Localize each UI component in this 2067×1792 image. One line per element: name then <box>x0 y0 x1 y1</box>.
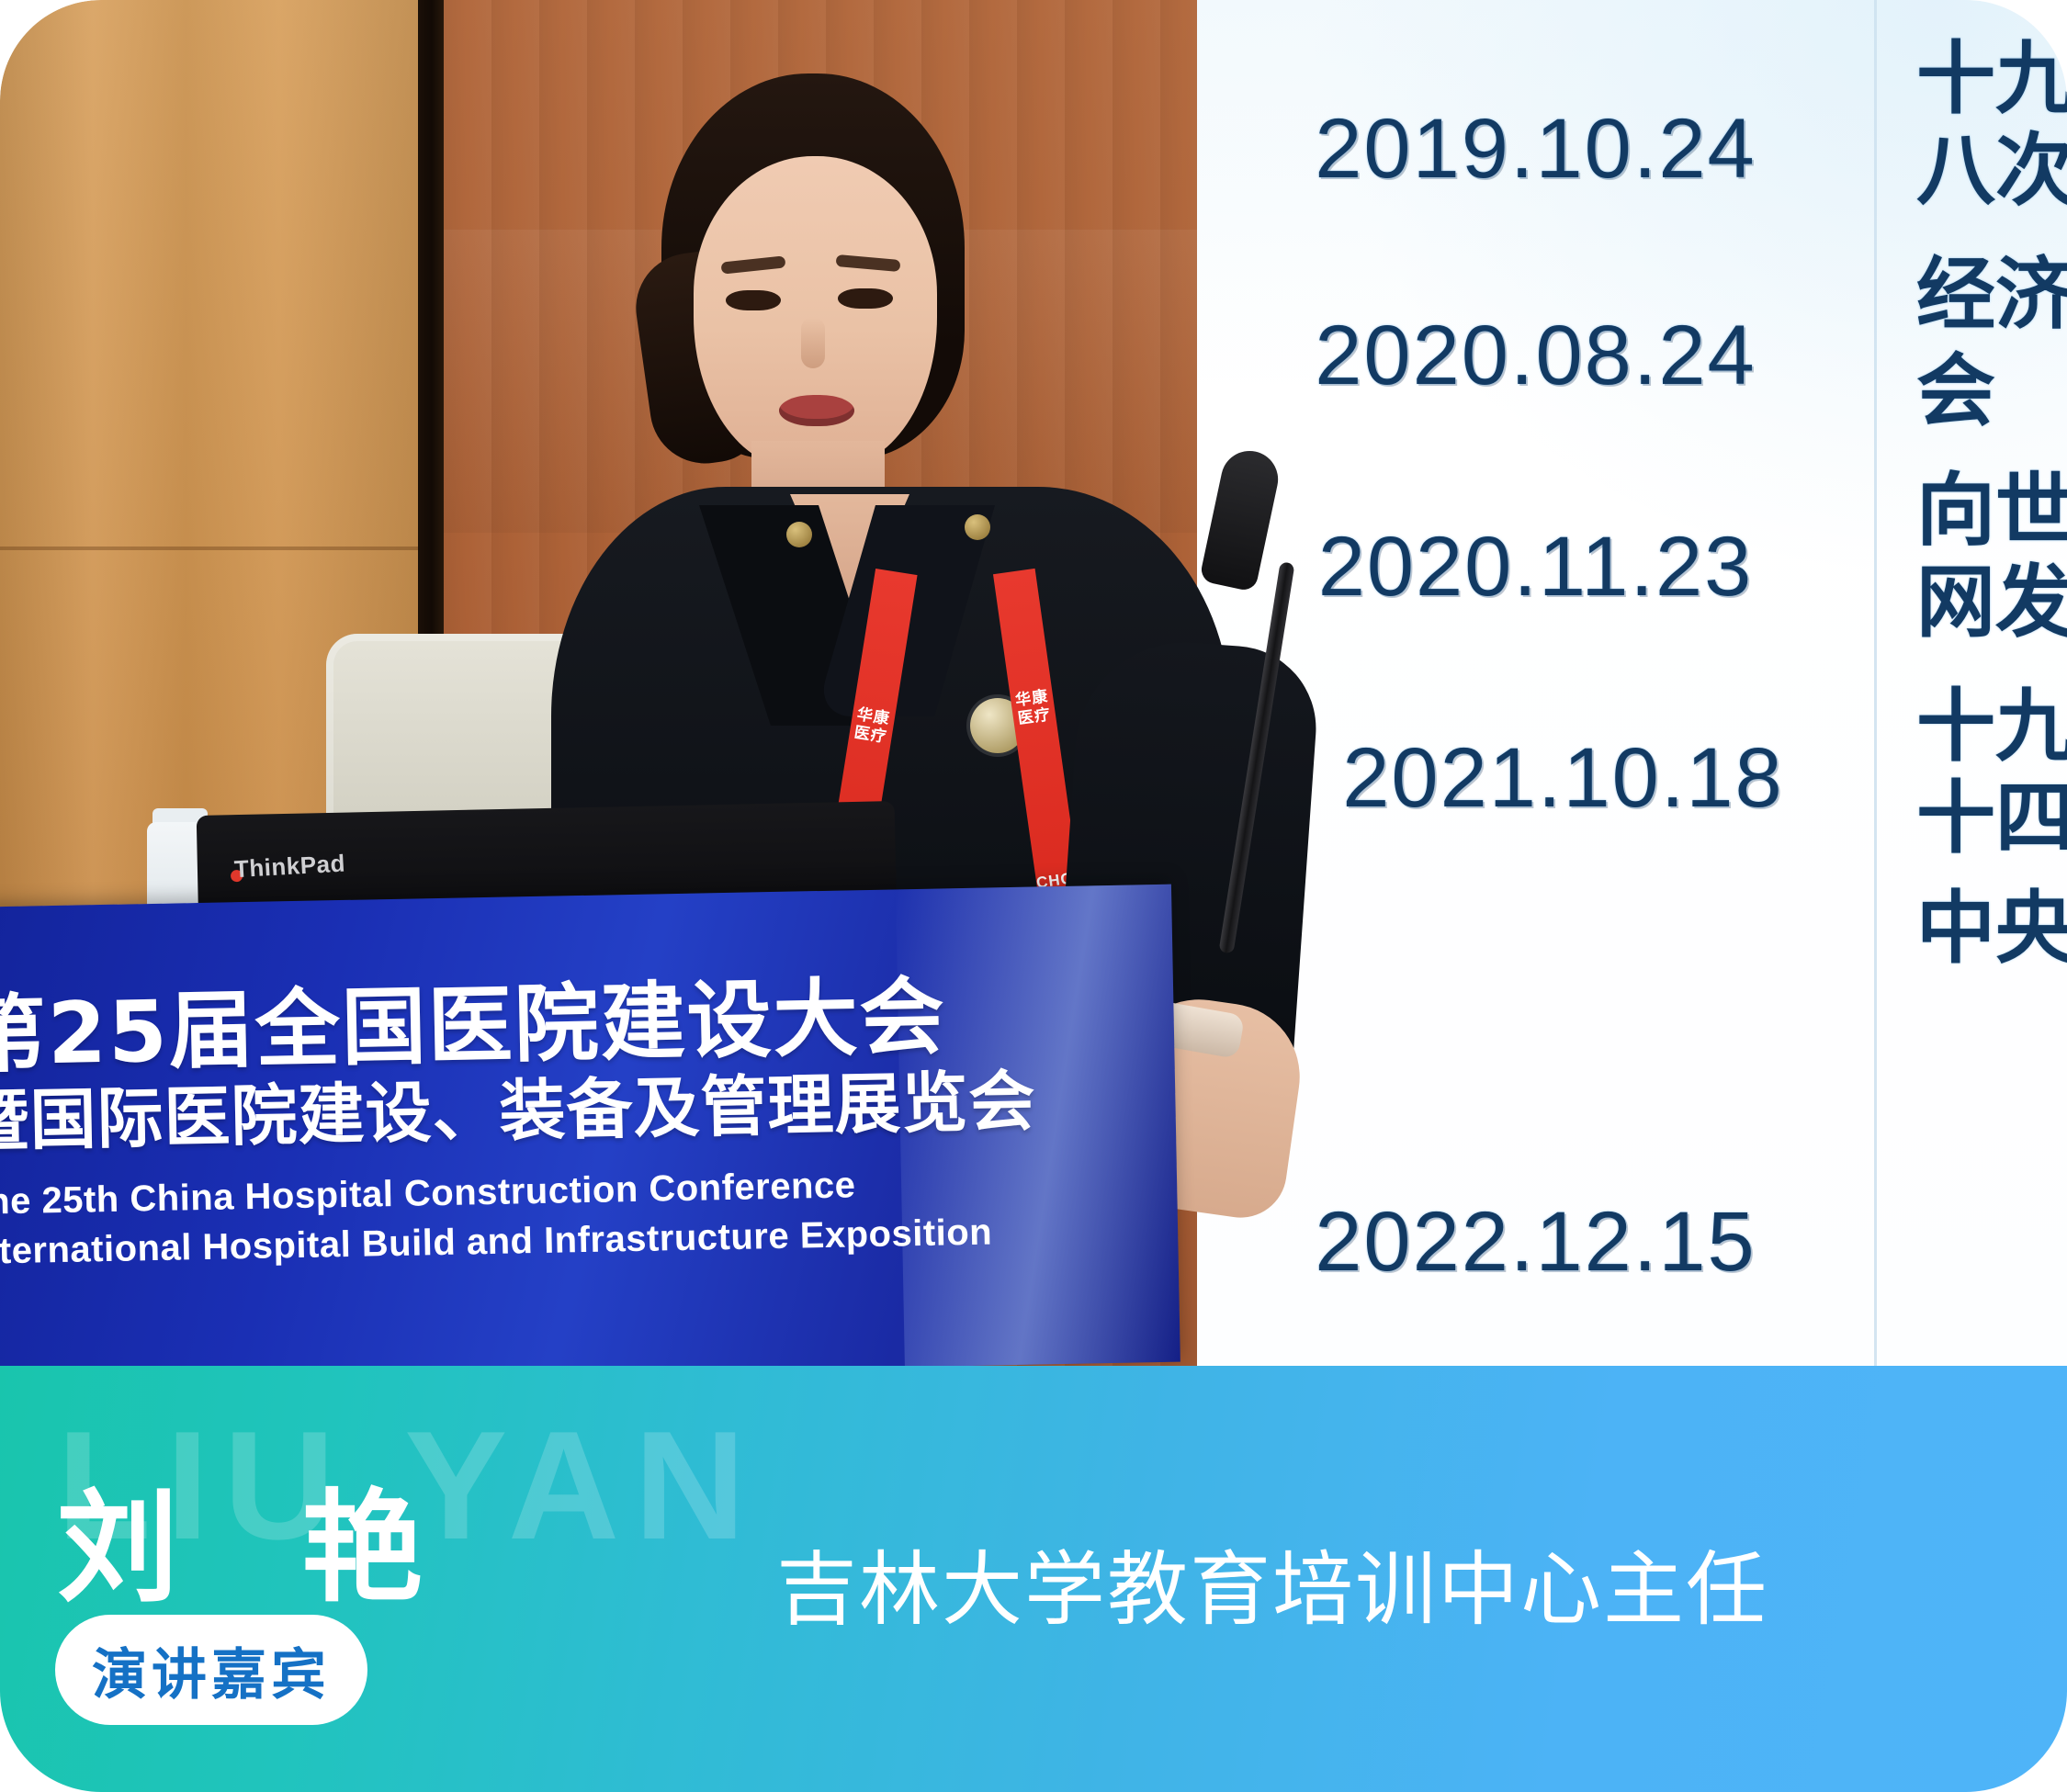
conference-title-cn-2: 暨国际医院建设、装备及管理展览会 <box>0 1065 1047 1159</box>
lanyard-brand-label: 华康医疗 <box>1010 687 1056 728</box>
gold-button <box>965 514 990 540</box>
slide-text-line: 八次 <box>1916 129 2067 214</box>
microphone-head <box>1199 445 1283 592</box>
slide-text-line: 中央 <box>1916 886 2067 972</box>
speaker-photo: 2019.10.24 2020.08.24 2020.11.23 2021.10… <box>0 0 2067 1369</box>
slide-text-column: 十九 八次 经济 会 向世 网发 十九 十四 中央 <box>1881 0 2067 1369</box>
slide-text-line: 网发 <box>1916 560 2067 646</box>
lanyard-brand-label: 华康医疗 <box>849 704 897 747</box>
podium-signage: 第25届全国医院建设大会 暨国际医院建设、装备及管理展览会 The 25th C… <box>0 969 1050 1277</box>
gold-button <box>786 522 812 547</box>
slide-text-line: 会 <box>1916 349 1995 434</box>
slide-text-line: 向世 <box>1916 468 2067 554</box>
laptop-brand-label: ThinkPad <box>233 850 346 885</box>
slide-text-line: 经济 <box>1916 253 2067 338</box>
speaker-affiliation-title: 吉林大学教育培训中心主任 <box>776 1525 1768 1641</box>
speaker-card: 2019.10.24 2020.08.24 2020.11.23 2021.10… <box>0 0 2067 1792</box>
slide-text-line: 十九 <box>1916 37 2067 122</box>
slide-divider <box>1874 0 1877 1369</box>
slide-date: 2022.12.15 <box>1197 1194 1874 1290</box>
eye-right <box>838 288 893 309</box>
podium: 第25届全国医院建设大会 暨国际医院建设、装备及管理展览会 The 25th C… <box>0 885 1180 1369</box>
slide-text-line: 十四 <box>1916 776 2067 862</box>
slide-text-line: 十九 <box>1916 684 2067 770</box>
speaker-role-badge[interactable]: 演讲嘉宾 <box>55 1615 367 1725</box>
eye-left <box>726 290 781 310</box>
nose <box>801 317 825 368</box>
speaker-name: 刘 艳 <box>57 1450 463 1626</box>
speaker-role-badge-label: 演讲嘉宾 <box>92 1630 331 1710</box>
mouth <box>779 395 854 426</box>
